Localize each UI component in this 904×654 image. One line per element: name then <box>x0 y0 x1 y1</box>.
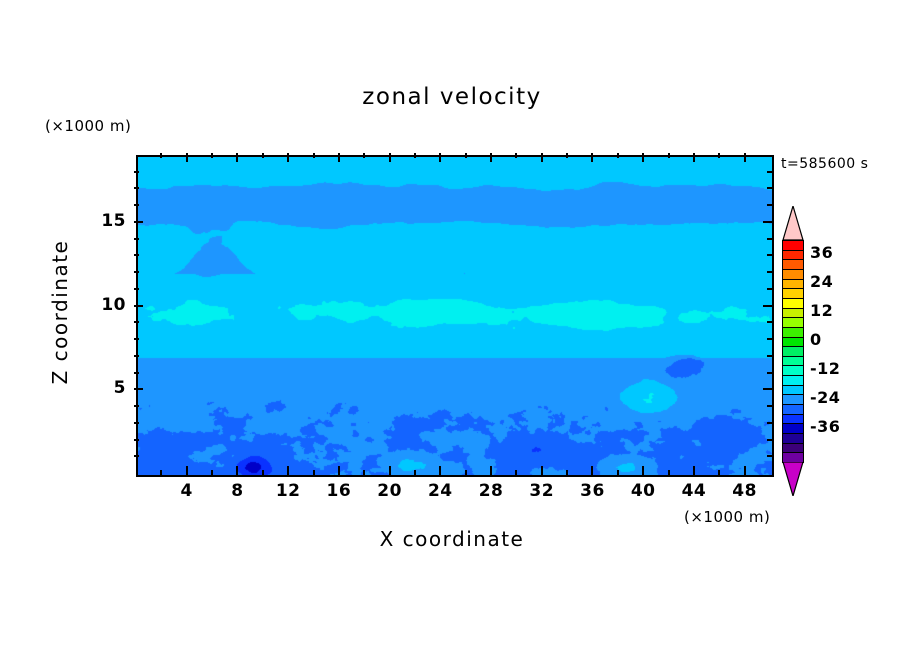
x-tick-40 <box>642 466 644 475</box>
x-tick-label-4: 4 <box>164 481 210 501</box>
x-tick-4 <box>186 466 188 475</box>
x-tick-32 <box>541 466 543 475</box>
x-tick-label-40: 40 <box>620 481 666 501</box>
x-tick-top-2 <box>160 153 162 158</box>
x-tick-top-20 <box>389 153 391 162</box>
x-tick-top-14 <box>313 153 315 158</box>
x-axis-title: X coordinate <box>0 527 904 551</box>
x-tick-label-48: 48 <box>722 481 768 501</box>
y-axis-unit-label: (×1000 m) <box>45 117 131 135</box>
colorbar-cap-top <box>782 206 804 240</box>
x-tick-top-40 <box>642 153 644 162</box>
x-tick-top-34 <box>566 153 568 158</box>
y-tick-right-18 <box>767 171 772 173</box>
y-tick-right-11 <box>767 288 772 290</box>
y-tick-11 <box>134 288 139 290</box>
y-tick-right-1 <box>767 455 772 457</box>
x-tick-top-10 <box>262 153 264 158</box>
x-tick-top-16 <box>338 153 340 162</box>
y-tick-16 <box>134 204 139 206</box>
x-tick-14 <box>313 470 315 475</box>
x-tick-label-36: 36 <box>569 481 615 501</box>
colorbar-label-3: 0 <box>810 330 822 349</box>
colorbar-label-1: 24 <box>810 272 833 291</box>
x-tick-48 <box>744 466 746 475</box>
x-tick-label-32: 32 <box>519 481 565 501</box>
x-tick-30 <box>515 470 517 475</box>
y-tick-3 <box>134 422 139 424</box>
y-tick-right-5 <box>763 388 772 390</box>
x-tick-8 <box>236 466 238 475</box>
x-tick-top-28 <box>490 153 492 162</box>
y-tick-right-2 <box>767 439 772 441</box>
x-tick-top-44 <box>693 153 695 162</box>
x-tick-28 <box>490 466 492 475</box>
x-tick-top-30 <box>515 153 517 158</box>
colorbar: 3624120-12-24-36 <box>782 206 804 496</box>
x-tick-top-22 <box>414 153 416 158</box>
y-tick-7 <box>134 355 139 357</box>
x-tick-top-42 <box>668 153 670 158</box>
x-tick-label-16: 16 <box>316 481 362 501</box>
y-tick-8 <box>134 338 139 340</box>
x-tick-44 <box>693 466 695 475</box>
colorbar-label-2: 12 <box>810 301 833 320</box>
x-tick-18 <box>363 470 365 475</box>
x-tick-2 <box>160 470 162 475</box>
colorbar-cap-bottom <box>782 462 804 496</box>
chart-title: zonal velocity <box>0 84 904 110</box>
x-tick-top-38 <box>617 153 619 158</box>
colorbar-label-0: 36 <box>810 243 833 262</box>
x-tick-34 <box>566 470 568 475</box>
y-tick-right-7 <box>767 355 772 357</box>
x-tick-46 <box>718 470 720 475</box>
x-tick-top-26 <box>465 153 467 158</box>
colorbar-label-4: -12 <box>810 359 840 378</box>
y-tick-13 <box>134 254 139 256</box>
y-tick-right-4 <box>767 405 772 407</box>
plot-area <box>136 155 774 477</box>
x-tick-top-48 <box>744 153 746 162</box>
y-tick-6 <box>134 372 139 374</box>
y-tick-5 <box>134 388 143 390</box>
x-tick-top-18 <box>363 153 365 158</box>
timestamp-annotation: t=585600 s <box>781 156 868 172</box>
x-tick-label-44: 44 <box>671 481 717 501</box>
x-tick-top-32 <box>541 153 543 162</box>
y-tick-right-13 <box>767 254 772 256</box>
y-tick-18 <box>134 171 139 173</box>
x-tick-16 <box>338 466 340 475</box>
y-tick-label-10: 10 <box>86 295 126 315</box>
contour-field <box>138 157 772 475</box>
x-tick-top-12 <box>287 153 289 162</box>
colorbar-label-6: -36 <box>810 417 840 436</box>
x-tick-label-28: 28 <box>468 481 514 501</box>
x-tick-42 <box>668 470 670 475</box>
x-tick-top-46 <box>718 153 720 158</box>
x-tick-label-12: 12 <box>265 481 311 501</box>
y-axis-title: Z coordinate <box>48 212 72 412</box>
y-tick-14 <box>134 238 139 240</box>
x-tick-22 <box>414 470 416 475</box>
y-tick-right-8 <box>767 338 772 340</box>
x-tick-label-8: 8 <box>214 481 260 501</box>
y-tick-10 <box>134 305 143 307</box>
x-tick-top-4 <box>186 153 188 162</box>
y-tick-12 <box>134 271 139 273</box>
y-tick-17 <box>134 187 139 189</box>
y-tick-right-14 <box>767 238 772 240</box>
x-axis-unit-label: (×1000 m) <box>684 508 770 526</box>
y-tick-15 <box>134 221 143 223</box>
x-tick-20 <box>389 466 391 475</box>
x-tick-10 <box>262 470 264 475</box>
figure-canvas: zonal velocity (×1000 m) t=585600 s 4812… <box>0 0 904 654</box>
y-tick-label-15: 15 <box>86 211 126 231</box>
y-tick-right-17 <box>767 187 772 189</box>
x-tick-top-24 <box>439 153 441 162</box>
x-tick-top-36 <box>591 153 593 162</box>
y-tick-4 <box>134 405 139 407</box>
y-tick-right-6 <box>767 372 772 374</box>
y-tick-right-3 <box>767 422 772 424</box>
x-tick-top-8 <box>236 153 238 162</box>
x-tick-38 <box>617 470 619 475</box>
x-tick-6 <box>211 470 213 475</box>
x-tick-top-6 <box>211 153 213 158</box>
y-tick-right-15 <box>763 221 772 223</box>
x-tick-36 <box>591 466 593 475</box>
x-tick-label-24: 24 <box>417 481 463 501</box>
y-tick-right-16 <box>767 204 772 206</box>
y-tick-9 <box>134 321 139 323</box>
x-tick-24 <box>439 466 441 475</box>
y-tick-label-5: 5 <box>86 378 126 398</box>
y-tick-right-9 <box>767 321 772 323</box>
x-tick-26 <box>465 470 467 475</box>
y-tick-right-12 <box>767 271 772 273</box>
x-tick-12 <box>287 466 289 475</box>
colorbar-label-5: -24 <box>810 388 840 407</box>
y-tick-right-10 <box>763 305 772 307</box>
y-tick-2 <box>134 439 139 441</box>
x-tick-label-20: 20 <box>367 481 413 501</box>
y-tick-1 <box>134 455 139 457</box>
